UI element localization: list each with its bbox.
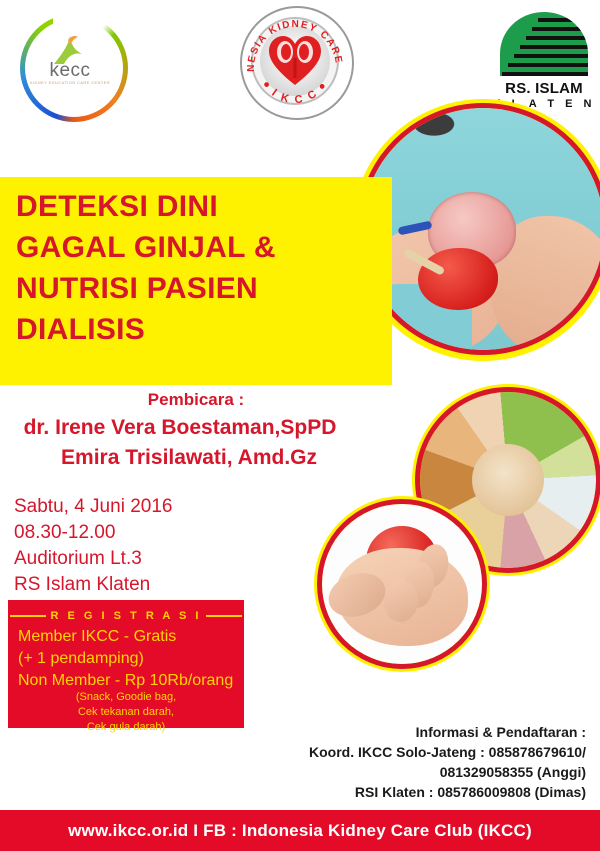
event-venue: Auditorium Lt.3 (14, 546, 172, 572)
event-time: 08.30-12.00 (14, 520, 172, 546)
nurse-holding-kidney-photo (362, 108, 600, 350)
title-line-1: DETEKSI DINI (16, 186, 376, 227)
registration-rule-right (206, 615, 242, 617)
food-wheel-center (472, 444, 544, 516)
ball-photo-image (322, 504, 482, 664)
registration-rule-left (10, 615, 46, 617)
nurse-photo-image (362, 108, 600, 350)
speaker-name-1: dr. Irene Vera Boestaman,SpPD (0, 416, 360, 440)
speaker-label: Pembicara : (0, 390, 392, 410)
ikcc-seal-text: INDONESIA KIDNEY CARE CLUB ● I K C C ● (240, 6, 350, 116)
event-date: Sabtu, 4 Juni 2016 (14, 494, 172, 520)
svg-text:INDONESIA KIDNEY CARE CLUB: INDONESIA KIDNEY CARE CLUB (240, 6, 344, 72)
contact-heading: Informasi & Pendaftaran : (309, 722, 586, 742)
rs-islam-klaten-logo: RS. ISLAM K L A T E N (492, 10, 596, 116)
kidney-model-red (418, 248, 498, 310)
event-place: RS Islam Klaten (14, 572, 172, 598)
registration-note-1: (Snack, Goodie bag, (8, 690, 244, 705)
title-line-2: GAGAL GINJAL & (16, 227, 376, 268)
event-details: Sabtu, 4 Juni 2016 08.30-12.00 Auditoriu… (14, 494, 172, 598)
registration-title: R E G I S T R A S I (51, 610, 202, 622)
kecc-tagline: KIDNEY EDUCATION CARE CENTER (28, 80, 112, 85)
green-dome-icon (498, 10, 590, 78)
registration-note-2: Cek tekanan darah, (8, 705, 244, 720)
poster: kecc KIDNEY EDUCATION CARE CENTER (0, 0, 600, 851)
speaker-name-2: Emira Trisilawati, Amd.Gz (0, 446, 378, 470)
kecc-wordmark: kecc (34, 60, 106, 82)
registration-line-2: (+ 1 pendamping) (18, 648, 242, 670)
registration-box: R E G I S T R A S I Member IKCC - Gratis… (8, 600, 244, 728)
contact-line-2[interactable]: 081329058355 (Anggi) (309, 762, 586, 782)
title-line-4: DIALISIS (16, 309, 376, 350)
registration-note-3: Cek gula darah) (8, 720, 244, 735)
registration-line-3: Non Member - Rp 10Rb/orang (18, 670, 242, 692)
svg-text:● I K C C ●: ● I K C C ● (260, 78, 331, 106)
registration-heading: R E G I S T R A S I (8, 610, 244, 622)
footer-bar: www.ikcc.or.id I FB : Indonesia Kidney C… (0, 810, 600, 851)
contact-info: Informasi & Pendaftaran : Koord. IKCC So… (309, 722, 586, 802)
registration-fees: Member IKCC - Gratis (+ 1 pendamping) No… (18, 626, 242, 692)
kecc-logo: kecc KIDNEY EDUCATION CARE CENTER (14, 12, 126, 116)
hand-squeezing-ball-photo (322, 504, 482, 664)
title-line-3: NUTRISI PASIEN (16, 268, 376, 309)
contact-line-3[interactable]: RSI Klaten : 085786009808 (Dimas) (309, 782, 586, 802)
footer-text[interactable]: www.ikcc.or.id I FB : Indonesia Kidney C… (0, 810, 600, 851)
contact-line-1[interactable]: Koord. IKCC Solo-Jateng : 085878679610/ (309, 742, 586, 762)
rsi-name: RS. ISLAM (492, 80, 596, 97)
registration-notes: (Snack, Goodie bag, Cek tekanan darah, C… (8, 690, 244, 735)
poster-title: DETEKSI DINI GAGAL GINJAL & NUTRISI PASI… (16, 186, 376, 350)
registration-line-1: Member IKCC - Gratis (18, 626, 242, 648)
ikcc-logo: INDONESIA KIDNEY CARE CLUB ● I K C C ● (240, 6, 356, 122)
